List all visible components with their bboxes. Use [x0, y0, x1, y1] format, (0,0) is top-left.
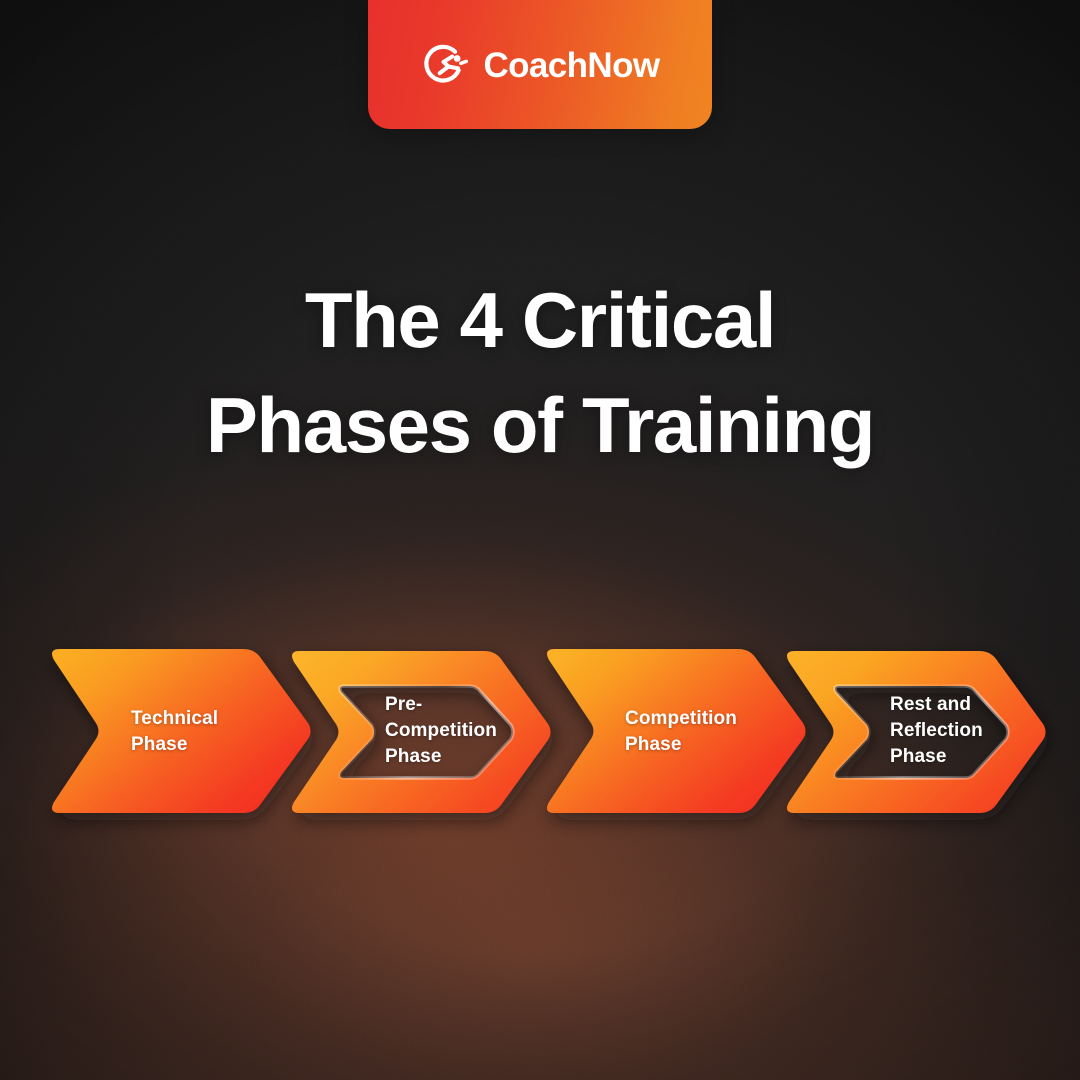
phase-label-3: Competition Phase: [625, 706, 737, 758]
poster-canvas: CoachNow The 4 Critical Phases of Traini…: [0, 0, 1080, 1080]
phase-chevron-flow: [0, 0, 1080, 1080]
phase-label-4: Rest and Reflection Phase: [890, 692, 983, 771]
phase-label-2: Pre- Competition Phase: [385, 692, 497, 771]
phase-label-1: Technical Phase: [131, 706, 218, 758]
